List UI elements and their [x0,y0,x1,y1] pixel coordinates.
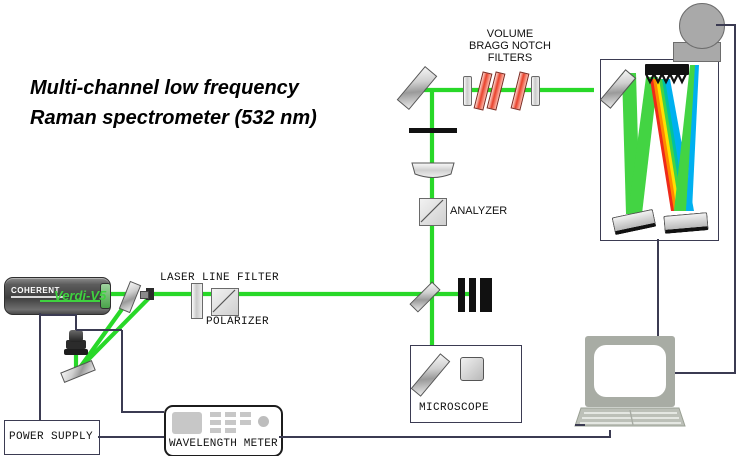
cable-wiring [0,0,745,456]
optical-setup-diagram: Multi-channel low frequency Raman spectr… [0,0,745,456]
